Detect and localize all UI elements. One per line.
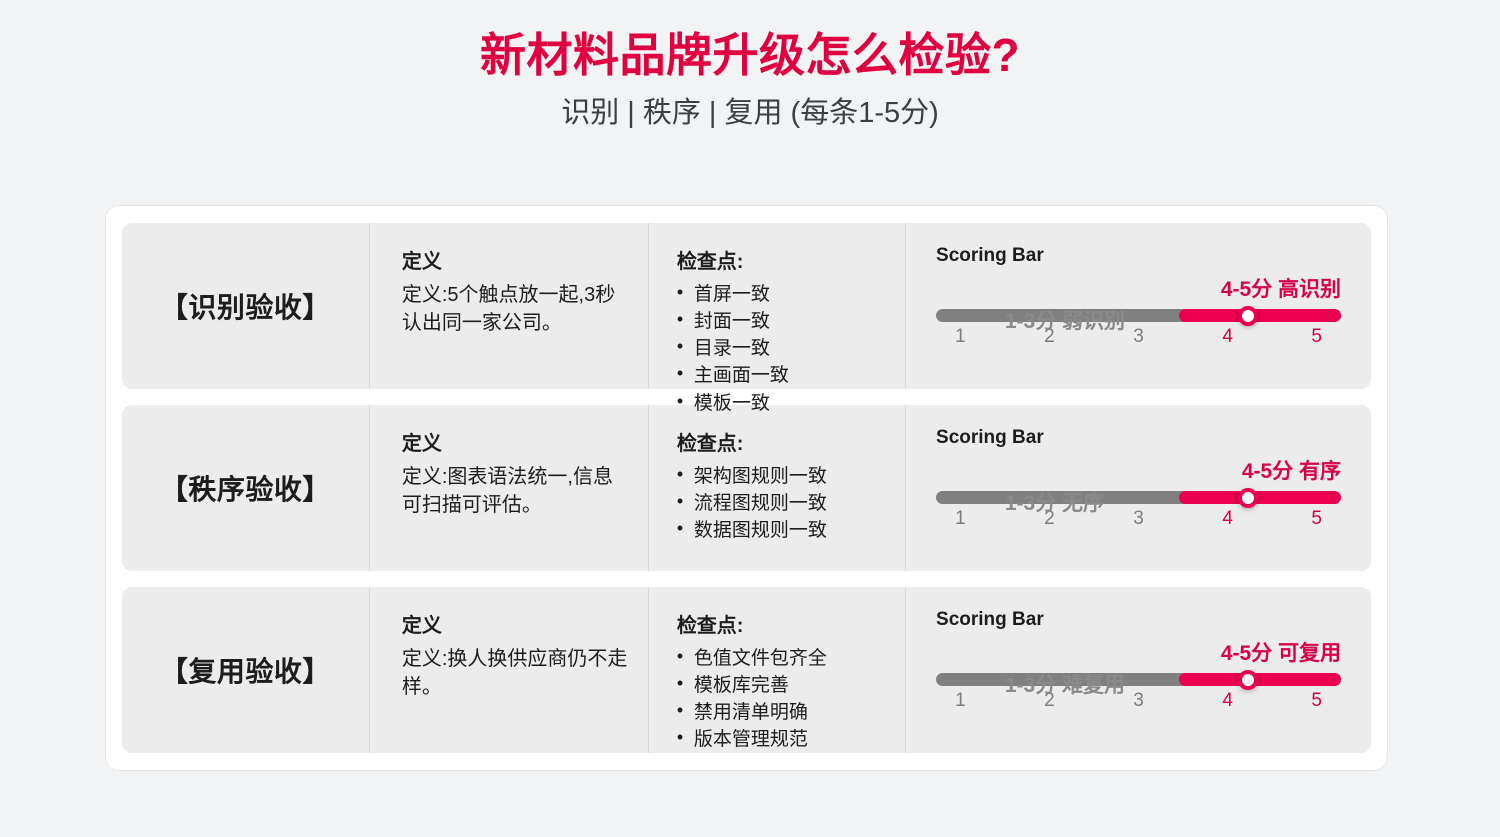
criteria-name: 【复用验收】 xyxy=(160,650,331,690)
definition-heading: 定义 xyxy=(402,431,630,457)
checkpoints-list: 色值文件包齐全模板库完善禁用清单明确版本管理规范 xyxy=(677,645,893,754)
checkpoint-item: 色值文件包齐全 xyxy=(677,645,893,672)
slider-knob[interactable] xyxy=(1238,488,1258,508)
criteria-row: 【复用验收】定义定义:换人换供应商仍不走样。检查点:色值文件包齐全模板库完善禁用… xyxy=(122,587,1371,753)
scale-tick: 5 xyxy=(1311,508,1322,530)
scale-tick: 1 xyxy=(955,508,966,530)
high-score-label: 4-5分 高识别 xyxy=(1221,273,1341,303)
page-title: 新材料品牌升级怎么检验? xyxy=(0,30,1500,82)
slider-fill xyxy=(1179,309,1341,322)
checkpoint-item: 封面一致 xyxy=(677,308,893,335)
scoring-cell: Scoring Bar4-5分 高识别123451-3分 弱识别 xyxy=(905,223,1371,389)
scale-tick: 4 xyxy=(1222,326,1233,348)
scale-tick: 4 xyxy=(1222,690,1233,712)
definition-cell: 定义定义:图表语法统一,信息可扫描可评估。 xyxy=(369,405,648,571)
slider-track[interactable] xyxy=(936,491,1341,504)
checkpoint-item: 模板一致 xyxy=(677,390,893,417)
scoring-bar[interactable]: 4-5分 有序123451-3分 无序 xyxy=(936,461,1341,532)
scale-tick: 1 xyxy=(955,326,966,348)
low-score-label: 1-3分 弱识别 xyxy=(1005,305,1125,335)
scoring-heading: Scoring Bar xyxy=(936,427,1341,449)
slider-knob[interactable] xyxy=(1238,670,1258,690)
slider-track[interactable] xyxy=(936,673,1341,686)
criteria-row: 【秩序验收】定义定义:图表语法统一,信息可扫描可评估。检查点:架构图规则一致流程… xyxy=(122,405,1371,571)
checkpoint-item: 流程图规则一致 xyxy=(677,490,893,517)
scoring-cell: Scoring Bar4-5分 有序123451-3分 无序 xyxy=(905,405,1371,571)
checkpoints-heading: 检查点: xyxy=(677,613,893,639)
low-score-label: 1-3分 难复用 xyxy=(1005,669,1125,699)
slider-knob[interactable] xyxy=(1238,306,1258,326)
criteria-name: 【识别验收】 xyxy=(160,286,331,326)
scoring-heading: Scoring Bar xyxy=(936,609,1341,631)
slider-fill xyxy=(1179,673,1341,686)
checkpoints-heading: 检查点: xyxy=(677,249,893,275)
checkpoints-list: 架构图规则一致流程图规则一致数据图规则一致 xyxy=(677,463,893,544)
slider-scale: 12345 xyxy=(936,690,1341,714)
checkpoint-item: 首屏一致 xyxy=(677,281,893,308)
slider-fill xyxy=(1179,491,1341,504)
definition-heading: 定义 xyxy=(402,613,630,639)
definition-heading: 定义 xyxy=(402,249,630,275)
scale-tick: 3 xyxy=(1133,508,1144,530)
criteria-label-cell: 【复用验收】 xyxy=(122,587,369,753)
scoring-heading: Scoring Bar xyxy=(936,245,1341,267)
checkpoints-heading: 检查点: xyxy=(677,431,893,457)
criteria-card: 【识别验收】定义定义:5个触点放一起,3秒认出同一家公司。检查点:首屏一致封面一… xyxy=(105,205,1388,771)
checkpoints-cell: 检查点:首屏一致封面一致目录一致主画面一致模板一致 xyxy=(648,223,905,389)
page-subtitle: 识别 | 秩序 | 复用 (每条1-5分) xyxy=(0,96,1500,131)
criteria-label-cell: 【秩序验收】 xyxy=(122,405,369,571)
checkpoints-list: 首屏一致封面一致目录一致主画面一致模板一致 xyxy=(677,281,893,417)
high-score-label: 4-5分 可复用 xyxy=(1221,637,1341,667)
checkpoint-item: 目录一致 xyxy=(677,335,893,362)
checkpoint-item: 主画面一致 xyxy=(677,362,893,389)
scale-tick: 5 xyxy=(1311,326,1322,348)
scoring-cell: Scoring Bar4-5分 可复用123451-3分 难复用 xyxy=(905,587,1371,753)
criteria-row-list: 【识别验收】定义定义:5个触点放一起,3秒认出同一家公司。检查点:首屏一致封面一… xyxy=(122,223,1371,753)
criteria-label-cell: 【识别验收】 xyxy=(122,223,369,389)
slider-track[interactable] xyxy=(936,309,1341,322)
scale-tick: 3 xyxy=(1133,326,1144,348)
scale-tick: 5 xyxy=(1311,690,1322,712)
definition-cell: 定义定义:换人换供应商仍不走样。 xyxy=(369,587,648,753)
checkpoint-item: 版本管理规范 xyxy=(677,726,893,753)
page-header: 新材料品牌升级怎么检验? 识别 | 秩序 | 复用 (每条1-5分) xyxy=(0,0,1500,130)
scale-tick: 4 xyxy=(1222,508,1233,530)
checkpoints-cell: 检查点:色值文件包齐全模板库完善禁用清单明确版本管理规范 xyxy=(648,587,905,753)
definition-text: 定义:5个触点放一起,3秒认出同一家公司。 xyxy=(402,281,630,338)
checkpoints-cell: 检查点:架构图规则一致流程图规则一致数据图规则一致 xyxy=(648,405,905,571)
checkpoint-item: 禁用清单明确 xyxy=(677,699,893,726)
definition-cell: 定义定义:5个触点放一起,3秒认出同一家公司。 xyxy=(369,223,648,389)
definition-text: 定义:换人换供应商仍不走样。 xyxy=(402,645,630,702)
scale-tick: 1 xyxy=(955,690,966,712)
criteria-row: 【识别验收】定义定义:5个触点放一起,3秒认出同一家公司。检查点:首屏一致封面一… xyxy=(122,223,1371,389)
scale-tick: 3 xyxy=(1133,690,1144,712)
low-score-label: 1-3分 无序 xyxy=(1005,487,1104,517)
checkpoint-item: 模板库完善 xyxy=(677,672,893,699)
scoring-bar[interactable]: 4-5分 高识别123451-3分 弱识别 xyxy=(936,279,1341,350)
checkpoint-item: 架构图规则一致 xyxy=(677,463,893,490)
checkpoint-item: 数据图规则一致 xyxy=(677,517,893,544)
slider-scale: 12345 xyxy=(936,326,1341,350)
slider-scale: 12345 xyxy=(936,508,1341,532)
high-score-label: 4-5分 有序 xyxy=(1242,455,1341,485)
definition-text: 定义:图表语法统一,信息可扫描可评估。 xyxy=(402,463,630,520)
scoring-bar[interactable]: 4-5分 可复用123451-3分 难复用 xyxy=(936,643,1341,714)
criteria-name: 【秩序验收】 xyxy=(160,468,331,508)
